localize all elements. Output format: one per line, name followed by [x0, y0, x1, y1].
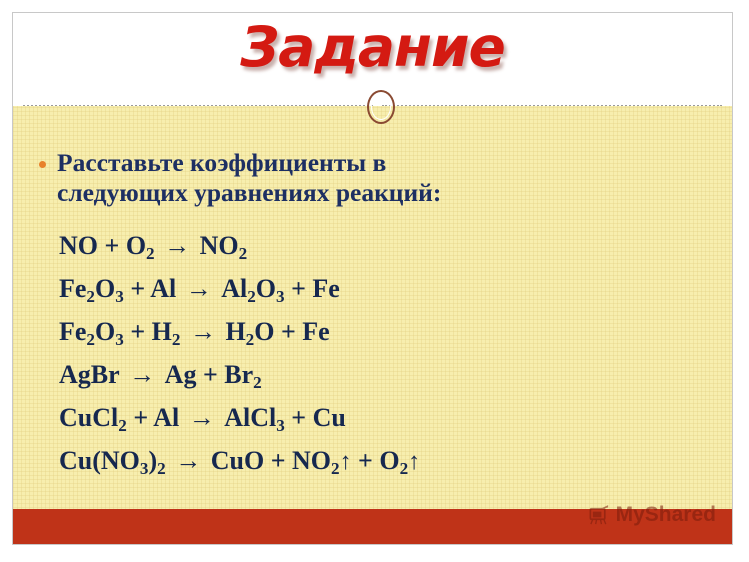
formula-text: NO [200, 231, 239, 260]
page-title: Задание [13, 19, 732, 77]
formula-text: CuO + NO [211, 446, 331, 475]
equation-1: NO + O2 → NO2 [27, 233, 722, 259]
formula-text: O [256, 274, 276, 303]
formula-text: AgBr [59, 360, 120, 389]
formula-text: ) [148, 446, 157, 475]
slide-content: Расставьте коэффициенты в следующих урав… [13, 106, 732, 475]
formula-text: + Fe [285, 274, 340, 303]
formula-text: + O [352, 446, 400, 475]
equation-4: AgBr → Ag + Br2 [27, 362, 722, 388]
formula-text: O [95, 274, 115, 303]
subscript: 2 [400, 459, 409, 478]
formula-text: NO + O [59, 231, 146, 260]
formula-text: O + Fe [254, 317, 329, 346]
instruction-text: Расставьте коэффициенты в следующих урав… [57, 148, 441, 207]
subscript: 2 [86, 330, 95, 349]
formula-text: + Cu [285, 403, 346, 432]
subscript: 2 [253, 373, 262, 392]
subscript: 2 [239, 244, 248, 263]
instruction-paragraph: Расставьте коэффициенты в следующих урав… [27, 148, 487, 208]
formula-text: Ag + Br [165, 360, 253, 389]
subscript: 3 [276, 416, 285, 435]
subscript: 2 [157, 459, 166, 478]
formula-text: AlCl [224, 403, 276, 432]
formula-text: H [225, 317, 245, 346]
subscript: 3 [140, 459, 149, 478]
formula-text: O [95, 317, 115, 346]
subscript: 3 [115, 330, 124, 349]
reaction-arrow-icon: → [179, 403, 224, 432]
subscript: 2 [146, 244, 155, 263]
subscript: 2 [247, 287, 256, 306]
equation-list: NO + O2 → NO2 Fe2O3 + Al → Al2O3 + Fe Fe… [27, 233, 722, 475]
formula-text: Al [221, 274, 247, 303]
equation-5: CuCl2 + Al → AlCl3 + Cu [27, 405, 722, 431]
footer-accent-bar [13, 509, 732, 544]
reaction-arrow-icon: → [120, 360, 165, 389]
formula-text: Cu(NO [59, 446, 140, 475]
formula-text: Fe [59, 317, 86, 346]
subscript: 3 [276, 287, 285, 306]
slide-body: Расставьте коэффициенты в следующих урав… [13, 106, 732, 544]
equation-6: Cu(NO3)2 → CuO + NO2↑ + O2↑ [27, 448, 722, 475]
presentation-slide: Задание Расставьте коэффициенты в следую… [12, 12, 733, 545]
reaction-arrow-icon: → [176, 274, 221, 303]
gas-evolution-arrow-icon: ↑ [408, 449, 420, 475]
formula-text: + Al [127, 403, 179, 432]
subscript: 2 [246, 330, 255, 349]
subscript: 2 [331, 459, 340, 478]
formula-text: CuCl [59, 403, 118, 432]
formula-text: + H [124, 317, 172, 346]
formula-text: Fe [59, 274, 86, 303]
subscript: 2 [86, 287, 95, 306]
gas-evolution-arrow-icon: ↑ [340, 449, 352, 475]
subscript: 2 [118, 416, 127, 435]
oval-ring-ornament-icon [367, 90, 395, 124]
equation-3: Fe2O3 + H2 → H2O + Fe [27, 319, 722, 345]
slide-root: Задание Расставьте коэффициенты в следую… [0, 0, 749, 562]
subscript: 2 [172, 330, 181, 349]
equation-2: Fe2O3 + Al → Al2O3 + Fe [27, 276, 722, 302]
reaction-arrow-icon: → [166, 446, 211, 475]
formula-text: + Al [124, 274, 176, 303]
bullet-dot-icon [39, 161, 46, 168]
subscript: 3 [115, 287, 124, 306]
reaction-arrow-icon: → [180, 317, 225, 346]
reaction-arrow-icon: → [155, 231, 200, 260]
